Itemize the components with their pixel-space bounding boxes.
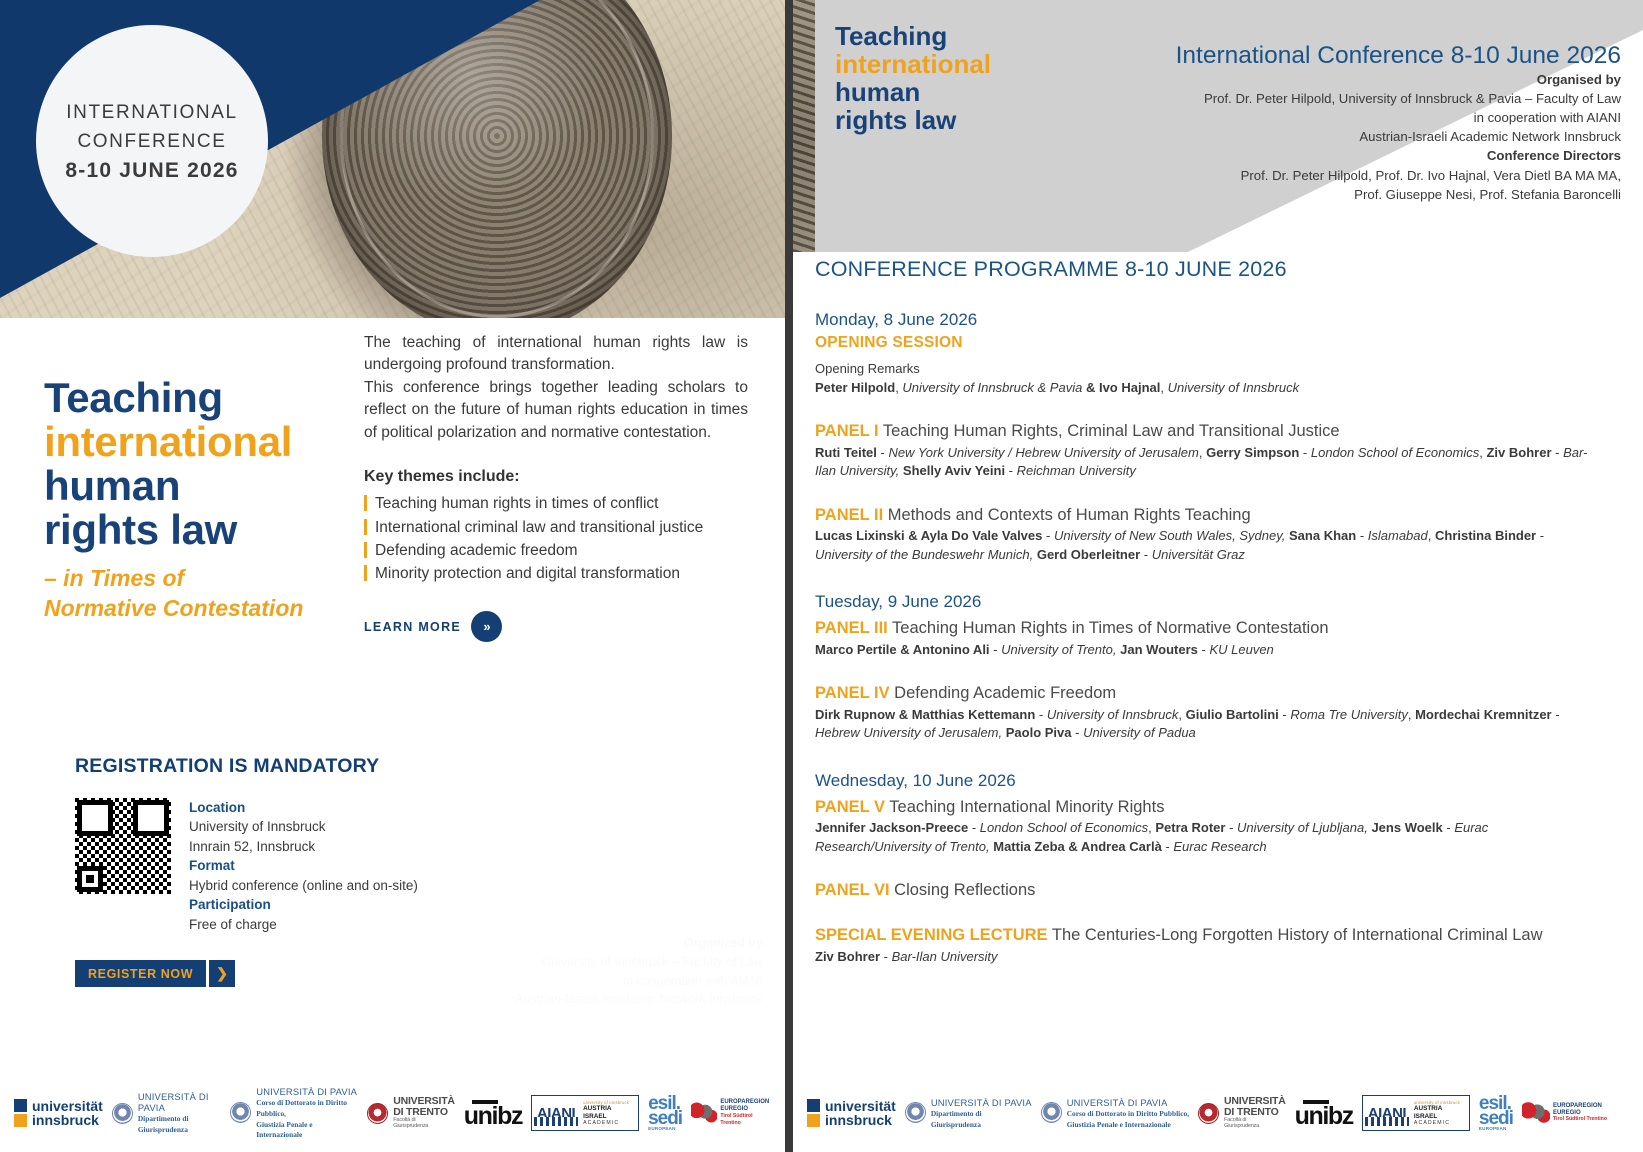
trento-crest-icon <box>367 1103 388 1124</box>
panel-title: PANEL V Teaching International Minority … <box>815 797 1597 818</box>
chevron-right-icon: ❯ <box>209 960 235 987</box>
conference-directors-label: Conference Directors <box>1061 146 1621 165</box>
title-line-1: Teaching <box>44 376 344 420</box>
panel-title: PANEL VI Closing Reflections <box>815 880 1597 901</box>
logo-unibz: unibz <box>1295 1100 1353 1126</box>
panel-title: PANEL III Teaching Human Rights in Times… <box>815 618 1597 639</box>
registration-details: Location University of Innsbruck Innrain… <box>75 798 495 934</box>
key-themes-list: Key themes include: Teaching human right… <box>364 468 748 585</box>
left-page: INTERNATIONAL CONFERENCE 8-10 JUNE 2026 … <box>0 0 785 1152</box>
participation-value: Free of charge <box>189 915 418 934</box>
format-value: Hybrid conference (online and on-site) <box>189 876 418 895</box>
trento-sub-2: Giurisprudenza <box>1224 1124 1286 1130</box>
ghost-line-2: University of Innsbruck – Faculty of Law <box>515 953 763 972</box>
panel-topic: Teaching Human Rights in Times of Normat… <box>892 619 1329 637</box>
panel-speakers: Ruti Teitel - New York University / Hebr… <box>815 444 1597 481</box>
panel-entry: PANEL II Methods and Contexts of Human R… <box>815 505 1597 565</box>
panel-label: PANEL V <box>815 798 885 816</box>
pavia2-name: UNIVERSITÀ DI PAVIA <box>256 1086 357 1097</box>
aiani-mark: AIANI <box>532 1096 580 1130</box>
footer-logo-strip-left: universität innsbruck UNIVERSITÀ DI PAVI… <box>0 1074 785 1152</box>
logo-universitat-innsbruck: universität innsbruck <box>807 1099 896 1127</box>
innsbruck-line-2: innsbruck <box>32 1112 99 1128</box>
key-theme-item: International criminal law and transitio… <box>364 516 748 539</box>
pavia2-sub-1: Corso di Dottorato in Diritto Pubblico, <box>256 1098 347 1118</box>
panel-title: SPECIAL EVENING LECTURE The Centuries-Lo… <box>815 925 1597 946</box>
register-now-button[interactable]: REGISTER NOW ❯ <box>75 960 235 987</box>
panel-title: PANEL IV Defending Academic Freedom <box>815 683 1597 704</box>
location-line-2: Innrain 52, Innsbruck <box>189 837 418 856</box>
right-title-line-4: rights law <box>835 106 991 134</box>
innsbruck-line-2: innsbruck <box>825 1112 892 1128</box>
register-now-label: REGISTER NOW <box>75 960 206 987</box>
pavia1-sub-2: Giurisprudenza <box>931 1120 981 1129</box>
euregio-line-1: EUROPAREGION <box>1553 1103 1602 1109</box>
title-subtitle: – in Times of Normative Contestation <box>44 564 344 623</box>
logo-universita-di-trento: UNIVERSITÀ DI TRENTO Facoltà di Giurispr… <box>1198 1096 1286 1130</box>
learn-more-button[interactable]: LEARN MORE » <box>364 611 748 642</box>
trento-wordmark: UNIVERSITÀ DI TRENTO Facoltà di Giurispr… <box>1224 1096 1286 1130</box>
organised-by-line: Prof. Dr. Peter Hilpold, University of I… <box>1061 89 1621 108</box>
watermark-organiser-text: Organized by University of Innsbruck – F… <box>515 934 763 1009</box>
aiani-text-3: ACADEMIC <box>1414 1120 1466 1126</box>
opening-remarks-people: Peter Hilpold, University of Innsbruck &… <box>815 379 1597 397</box>
logo-esil-sedi: esil. sedi EUROPEAN <box>1479 1096 1513 1131</box>
ghost-line-1: Organized by <box>515 934 763 953</box>
location-line-1: University of Innsbruck <box>189 817 418 836</box>
pavia2-sub-2: Giustizia Penale e Internazionale <box>1067 1120 1171 1129</box>
coin-photo-strip <box>793 0 815 252</box>
pavia1-sub-2: Giurisprudenza <box>138 1125 188 1134</box>
footer-logo-strip-right: universität innsbruck UNIVERSITÀ DI PAVI… <box>793 1074 1643 1152</box>
pavia-crest-icon <box>112 1103 133 1124</box>
euregio-line-2: EUREGIO <box>720 1106 748 1112</box>
conference-badge: INTERNATIONAL CONFERENCE 8-10 JUNE 2026 <box>36 25 268 257</box>
title-line-4: rights law <box>44 508 344 552</box>
logo-aiani: AIANI university of innsbruck AUSTRIA IS… <box>1362 1095 1470 1131</box>
key-theme-item: Defending academic freedom <box>364 539 748 562</box>
panel-label: PANEL VI <box>815 881 890 899</box>
qr-code-icon[interactable] <box>75 798 171 894</box>
ghost-line-3: in cooperation with AIANI <box>515 972 763 991</box>
programme-day: Tuesday, 9 June 2026 PANEL III Teaching … <box>815 592 1597 743</box>
aiani-text-3: ACADEMIC <box>583 1120 635 1126</box>
panel-entry: PANEL V Teaching International Minority … <box>815 797 1597 857</box>
innsbruck-wordmark: universität innsbruck <box>32 1099 103 1127</box>
page-title: Teaching international human rights law … <box>44 376 344 623</box>
panel-speakers: Lucas Lixinski & Ayla Do Vale Valves - U… <box>815 527 1597 564</box>
day-label: Tuesday, 9 June 2026 <box>815 592 1597 612</box>
pavia2-name: UNIVERSITÀ DI PAVIA <box>1067 1097 1168 1108</box>
panel-entry: PANEL IV Defending Academic Freedom Dirk… <box>815 683 1597 743</box>
panel-label: PANEL II <box>815 506 883 524</box>
pavia-crest-icon <box>230 1102 251 1123</box>
pavia-crest-icon <box>905 1102 926 1123</box>
panel-topic: Closing Reflections <box>894 881 1035 899</box>
badge-line-1: INTERNATIONAL <box>66 99 237 128</box>
logo-europaregion-euregio: EUROPAREGION EUREGIO Tirol Südtirol Tren… <box>691 1099 771 1126</box>
panel-label: PANEL IV <box>815 684 890 702</box>
panel-topic: Defending Academic Freedom <box>894 684 1116 702</box>
key-themes-heading: Key themes include: <box>364 468 748 486</box>
poster-spread: INTERNATIONAL CONFERENCE 8-10 JUNE 2026 … <box>0 0 1643 1152</box>
conference-header-info: International Conference 8-10 June 2026 … <box>1061 42 1621 204</box>
panel-speakers: Jennifer Jackson-Preece - London School … <box>815 819 1597 856</box>
registration-heading: REGISTRATION IS MANDATORY <box>75 755 495 778</box>
intro-paragraph-2: This conference brings together leading … <box>364 377 748 444</box>
trento-sub-2: Giurisprudenza <box>393 1124 455 1130</box>
pavia-wordmark-1: UNIVERSITÀ DI PAVIA Dipartimento di Giur… <box>931 1097 1032 1130</box>
pavia-wordmark-2: UNIVERSITÀ DI PAVIA Corso di Dottorato i… <box>1067 1097 1189 1130</box>
euregio-eagles-icon <box>691 1100 717 1126</box>
innsbruck-wordmark: universität innsbruck <box>825 1099 896 1127</box>
opening-remarks-label: Opening Remarks <box>815 360 1597 378</box>
conference-name-dates: International Conference 8-10 June 2026 <box>1061 42 1621 70</box>
panel-topic: Teaching International Minority Rights <box>889 798 1164 816</box>
badge-dates: 8-10 JUNE 2026 <box>65 159 238 183</box>
right-title-line-1: Teaching <box>835 22 991 50</box>
innsbruck-squares-icon <box>14 1099 27 1127</box>
cooperation-line: in cooperation with AIANI <box>1061 108 1621 127</box>
euregio-eagles-icon <box>1522 1100 1550 1126</box>
euregio-wordmark: EUROPAREGION EUREGIO Tirol Südtirol Tren… <box>720 1099 771 1126</box>
title-line-3: human <box>44 464 344 508</box>
innsbruck-squares-icon <box>807 1099 820 1127</box>
special-lecture-entry: SPECIAL EVENING LECTURE The Centuries-Lo… <box>815 925 1597 966</box>
ghost-line-4: Austrian-Israeli Academic Network Innsbr… <box>515 990 763 1009</box>
panel-label: PANEL III <box>815 619 888 637</box>
aiani-text: university of innsbruck AUSTRIA ISRAEL A… <box>580 1096 638 1130</box>
logo-unibz: unibz <box>464 1100 522 1126</box>
pavia2-sub-1: Corso di Dottorato in Diritto Pubblico, <box>1067 1109 1189 1118</box>
panel-entry: PANEL I Teaching Human Rights, Criminal … <box>815 421 1597 481</box>
registration-section: REGISTRATION IS MANDATORY Location Unive… <box>75 755 495 987</box>
hero-banner: INTERNATIONAL CONFERENCE 8-10 JUNE 2026 <box>0 0 785 318</box>
programme-heading: CONFERENCE PROGRAMME 8-10 JUNE 2026 <box>815 257 1597 282</box>
aiani-mark: AIANI <box>1363 1096 1411 1130</box>
left-body: Teaching international human rights law … <box>0 318 785 1152</box>
aiani-text-2: AUSTRIA ISRAEL <box>1414 1105 1466 1119</box>
title-line-2: international <box>44 420 344 464</box>
logo-universita-di-trento: UNIVERSITÀ DI TRENTO Facoltà di Giurispr… <box>367 1096 455 1130</box>
panel-entry: PANEL VI Closing Reflections <box>815 880 1597 901</box>
pavia-crest-icon <box>1041 1102 1062 1123</box>
location-label: Location <box>189 798 418 817</box>
day-label: Wednesday, 10 June 2026 <box>815 771 1597 791</box>
directors-line-1: Prof. Dr. Peter Hilpold, Prof. Dr. Ivo H… <box>1061 166 1621 185</box>
registration-info: Location University of Innsbruck Innrain… <box>189 798 418 934</box>
panel-topic: Methods and Contexts of Human Rights Tea… <box>888 506 1251 524</box>
day-label: Monday, 8 June 2026 <box>815 310 1597 330</box>
right-page: Teaching international human rights law … <box>793 0 1643 1152</box>
logo-universita-di-pavia-dottorato: UNIVERSITÀ DI PAVIA Corso di Dottorato i… <box>1041 1097 1189 1130</box>
right-title-line-3: human <box>835 78 991 106</box>
euregio-wordmark: EUROPAREGION EUREGIO Tirol Südtirol Tren… <box>1553 1103 1607 1123</box>
right-title-line-2: international <box>835 50 991 78</box>
euregio-line-2: EUREGIO <box>1553 1110 1581 1116</box>
subtitle-line-1: – in Times of <box>44 564 344 593</box>
trento-crest-icon <box>1198 1103 1219 1124</box>
panel-title: PANEL II Methods and Contexts of Human R… <box>815 505 1597 526</box>
panel-title: PANEL I Teaching Human Rights, Criminal … <box>815 421 1597 442</box>
logo-europaregion-euregio: EUROPAREGION EUREGIO Tirol Südtirol Tren… <box>1522 1100 1607 1126</box>
aiani-text: university of innsbruck AUSTRIA ISRAEL A… <box>1411 1096 1469 1130</box>
programme-section: CONFERENCE PROGRAMME 8-10 JUNE 2026 Mond… <box>815 252 1615 966</box>
format-label: Format <box>189 856 418 875</box>
key-theme-item: Minority protection and digital transfor… <box>364 562 748 585</box>
directors-line-2: Prof. Giuseppe Nesi, Prof. Stefania Baro… <box>1061 185 1621 204</box>
panel-topic: The Centuries-Long Forgotten History of … <box>1052 926 1543 944</box>
pavia-wordmark-2: UNIVERSITÀ DI PAVIA Corso di Dottorato i… <box>256 1086 358 1140</box>
pavia1-name: UNIVERSITÀ DI PAVIA <box>931 1097 1032 1108</box>
trento-wordmark: UNIVERSITÀ DI TRENTO Facoltà di Giurispr… <box>393 1096 455 1130</box>
pavia1-sub-1: Dipartimento di <box>931 1109 982 1118</box>
panel-speakers: Dirk Rupnow & Matthias Kettemann - Unive… <box>815 706 1597 743</box>
organised-by-label: Organised by <box>1061 70 1621 89</box>
logo-universita-di-pavia-giurisprudenza: UNIVERSITÀ DI PAVIA Dipartimento di Giur… <box>905 1097 1032 1130</box>
pavia2-sub-2: Giustizia Penale e Internazionale <box>256 1120 312 1140</box>
logo-aiani: AIANI university of innsbruck AUSTRIA IS… <box>531 1095 639 1131</box>
panel-speakers: Marco Pertile & Antonino Ali - Universit… <box>815 641 1597 659</box>
pavia-wordmark-1: UNIVERSITÀ DI PAVIA Dipartimento di Giur… <box>138 1091 221 1135</box>
euregio-line-3: Tirol Südtirol Trentino <box>720 1113 752 1126</box>
euregio-line-1: EUROPAREGION <box>720 1099 769 1105</box>
panel-label: PANEL I <box>815 422 879 440</box>
panel-label: SPECIAL EVENING LECTURE <box>815 926 1048 944</box>
panel-topic: Teaching Human Rights, Criminal Law and … <box>883 422 1340 440</box>
double-chevron-right-icon: » <box>471 611 502 642</box>
intro-paragraph-1: The teaching of international human righ… <box>364 332 748 377</box>
logo-universitat-innsbruck: universität innsbruck <box>14 1099 103 1127</box>
panel-speakers: Ziv Bohrer - Bar-Ilan University <box>815 948 1597 966</box>
right-page-title: Teaching international human rights law <box>835 22 991 134</box>
aiani-text-2: AUSTRIA ISRAEL <box>583 1105 635 1119</box>
badge-line-2: CONFERENCE <box>77 128 226 157</box>
subtitle-line-2: Normative Contestation <box>44 594 344 623</box>
learn-more-label: LEARN MORE <box>364 620 461 634</box>
panel-entry: PANEL III Teaching Human Rights in Times… <box>815 618 1597 659</box>
programme-day: Wednesday, 10 June 2026 PANEL V Teaching… <box>815 771 1597 966</box>
key-theme-item: Teaching human rights in times of confli… <box>364 492 748 515</box>
pavia1-name: UNIVERSITÀ DI PAVIA <box>138 1091 209 1113</box>
logo-universita-di-pavia-dottorato: UNIVERSITÀ DI PAVIA Corso di Dottorato i… <box>230 1086 358 1140</box>
participation-label: Participation <box>189 895 418 914</box>
page-divider <box>785 0 793 1152</box>
euregio-line-3: Tirol Südtirol Trentino <box>1553 1116 1607 1122</box>
logo-universita-di-pavia-giurisprudenza: UNIVERSITÀ DI PAVIA Dipartimento di Giur… <box>112 1091 221 1135</box>
pavia1-sub-1: Dipartimento di <box>138 1114 189 1123</box>
logo-esil-sedi: esil. sedi EUROPEAN <box>648 1096 682 1131</box>
intro-section: The teaching of international human righ… <box>364 332 748 642</box>
network-line: Austrian-Israeli Academic Network Innsbr… <box>1061 127 1621 146</box>
session-heading: OPENING SESSION <box>815 334 1597 352</box>
programme-day: Monday, 8 June 2026 OPENING SESSION Open… <box>815 310 1597 564</box>
